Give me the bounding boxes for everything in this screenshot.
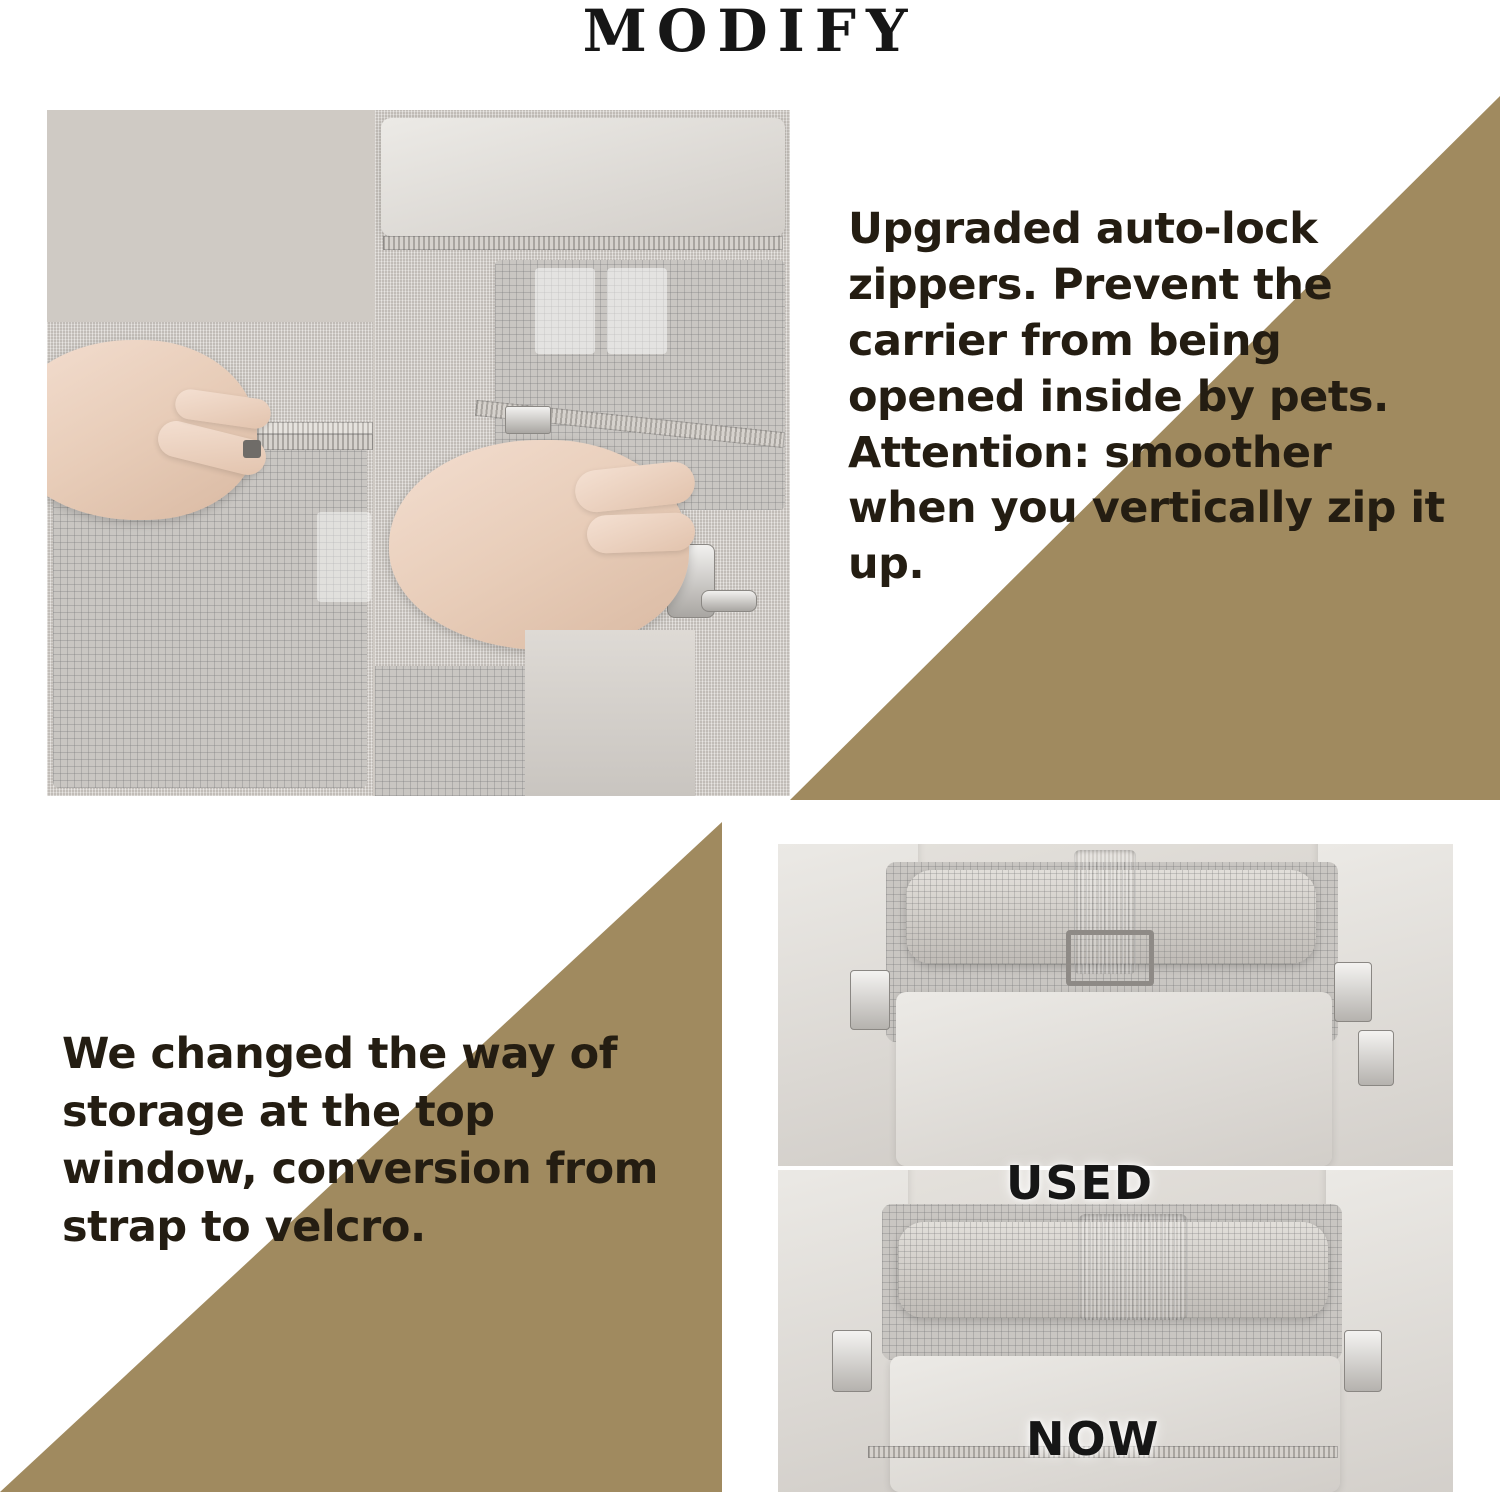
storage-section: We changed the way of storage at the top…: [0, 822, 1500, 1492]
caption-now: NOW: [1026, 1412, 1160, 1466]
zipper-photo-group: [47, 110, 790, 796]
hand-pulling-zipper-closeup-image: [47, 322, 373, 796]
zipper-section: Upgraded auto-lock zippers. Prevent the …: [0, 96, 1500, 800]
storage-section-text: We changed the way of storage at the top…: [62, 1026, 692, 1256]
hand-on-mesh-window-zipper-image: [375, 110, 790, 796]
caption-used: USED: [1006, 1156, 1154, 1210]
top-window-rolled-with-strap-image: [778, 844, 1453, 1166]
page-title: MODIFY: [0, 2, 1500, 60]
zipper-section-text: Upgraded auto-lock zippers. Prevent the …: [848, 202, 1458, 593]
product-infographic-page: MODIFY: [0, 0, 1500, 1492]
